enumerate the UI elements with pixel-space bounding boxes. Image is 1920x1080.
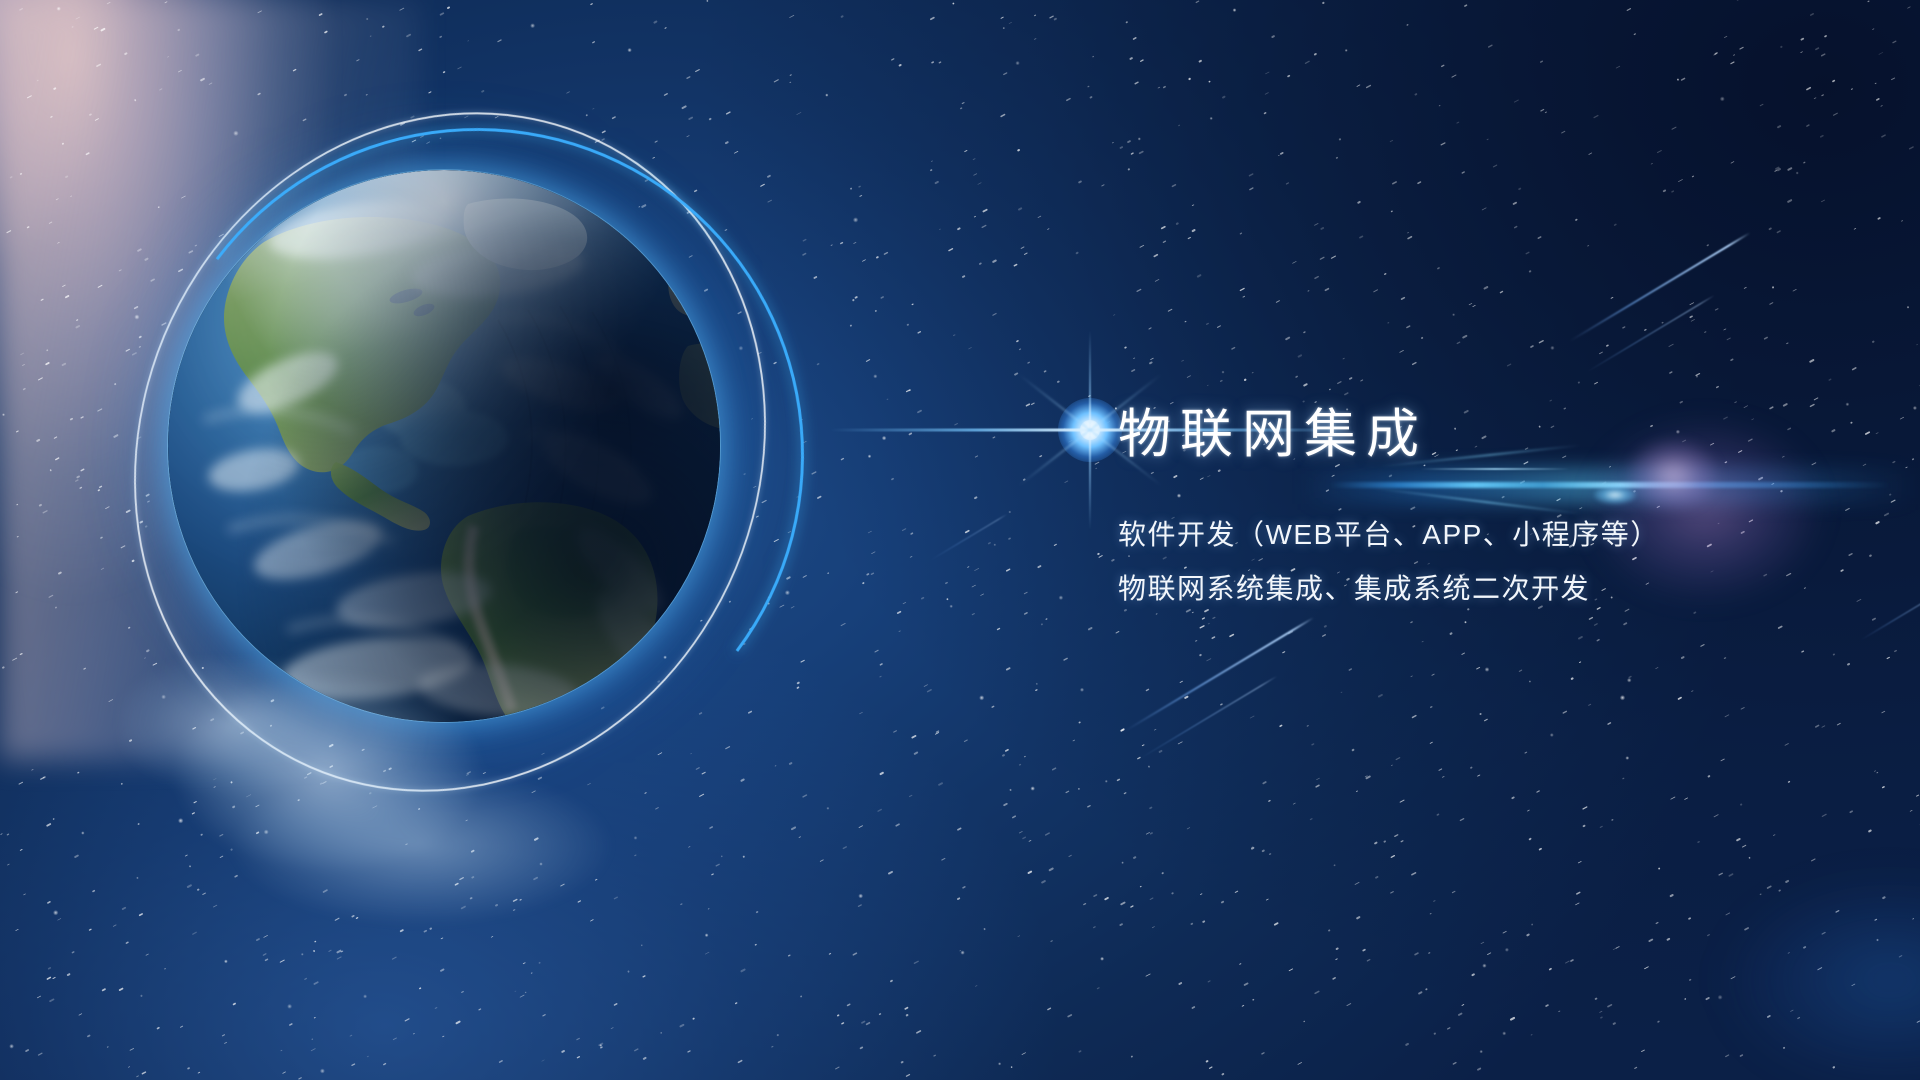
hero-subtitle-1: 软件开发（WEB平台、APP、小程序等） <box>1118 521 1858 549</box>
hero-banner: 物联网集成 软件开发（WEB平台、APP、小程序等） 物联网系统集成、集成系统二… <box>0 0 1920 1080</box>
page-title: 物联网集成 <box>1118 408 1858 461</box>
hero-subtitle-2: 物联网系统集成、集成系统二次开发 <box>1118 575 1858 603</box>
hero-text-block: 物联网集成 软件开发（WEB平台、APP、小程序等） 物联网系统集成、集成系统二… <box>1118 408 1858 603</box>
